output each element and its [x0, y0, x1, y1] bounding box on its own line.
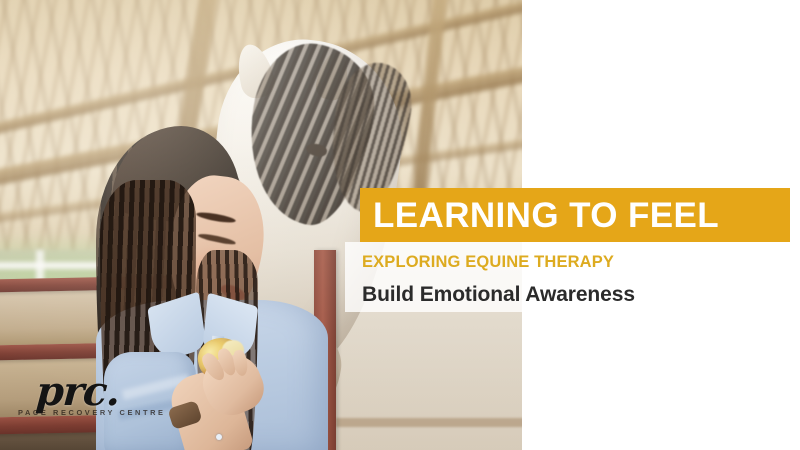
prc-logo[interactable]: prc. PACE RECOVERY CENTRE — [36, 374, 162, 422]
tagline: Build Emotional Awareness — [362, 283, 635, 307]
title-banner: LEARNING TO FEEL — [360, 188, 790, 242]
logo-subtext: PACE RECOVERY CENTRE — [18, 408, 166, 417]
subtitle: EXPLORING EQUINE THERAPY — [362, 253, 614, 272]
stall-wall-rail — [336, 418, 522, 427]
marketing-slide: prc. PACE RECOVERY CENTRE LEARNING TO FE… — [0, 0, 800, 450]
page-title: LEARNING TO FEEL — [360, 198, 719, 233]
shirt-button — [216, 434, 222, 440]
logo-wordmark: prc. — [35, 374, 164, 411]
